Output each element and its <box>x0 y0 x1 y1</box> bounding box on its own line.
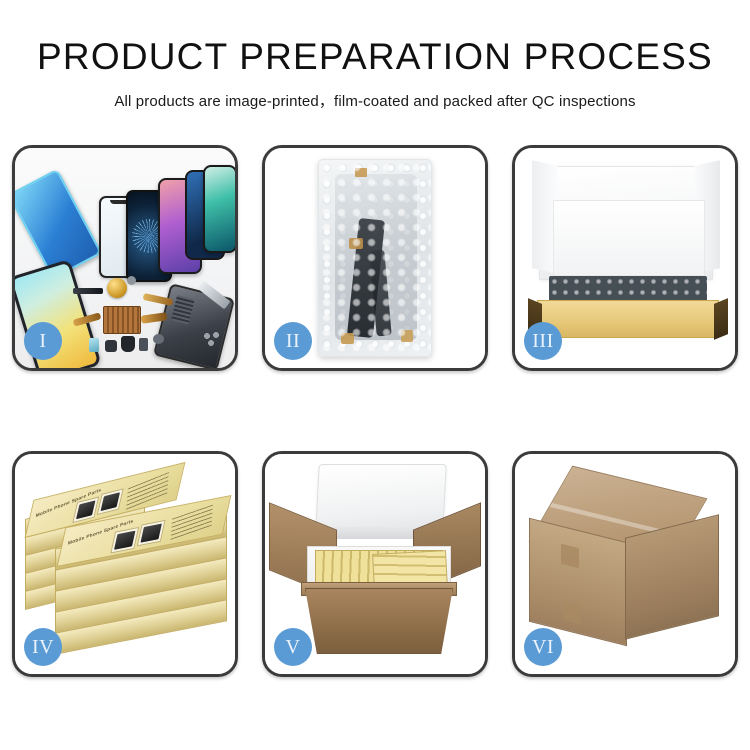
step-card-3[interactable]: III <box>512 145 738 371</box>
carton-front-panel-icon <box>305 588 453 654</box>
phone-green-icon <box>203 165 237 253</box>
small-part-icon <box>89 338 99 352</box>
step-card-6[interactable]: VI <box>512 451 738 677</box>
box-spec-lines <box>171 505 214 541</box>
infographic-page: PRODUCT PREPARATION PROCESS All products… <box>0 0 750 750</box>
small-part-icon <box>105 340 117 352</box>
page-subtitle: All products are image-printed，film-coat… <box>0 90 750 111</box>
page-title: PRODUCT PREPARATION PROCESS <box>0 38 750 77</box>
box-spec-lines <box>126 472 169 511</box>
box-artwork-icon <box>110 527 139 554</box>
box-artwork-icon <box>137 520 166 547</box>
bubble-texture-overlay <box>319 160 431 356</box>
carton-right-face-icon <box>625 514 719 639</box>
small-part-icon <box>153 334 164 344</box>
small-part-icon <box>139 338 148 351</box>
step-card-4[interactable]: Mobile Phone Spare Parts Mobile Phone Sp… <box>12 451 238 677</box>
foam-lid-icon <box>315 464 447 532</box>
step-badge-5: V <box>274 628 312 666</box>
step-badge-6: VI <box>524 628 562 666</box>
process-step-grid: I II <box>12 145 738 677</box>
small-part-icon <box>127 276 136 285</box>
step-badge-2: II <box>274 322 312 360</box>
bubble-wrap-package-icon <box>318 159 432 357</box>
step-card-5[interactable]: V <box>262 451 488 677</box>
step-badge-4: IV <box>24 628 62 666</box>
small-part-icon <box>121 336 135 352</box>
header: PRODUCT PREPARATION PROCESS All products… <box>0 0 750 111</box>
foam-sheet-icon <box>553 200 705 276</box>
kraft-box-base-icon <box>537 300 719 338</box>
box-artwork-icon <box>97 488 124 515</box>
step-card-2[interactable]: II <box>262 145 488 371</box>
step-card-1[interactable]: I <box>12 145 238 371</box>
chip-grid-icon <box>103 306 141 334</box>
speaker-coil-icon <box>107 278 127 298</box>
step-badge-3: III <box>524 322 562 360</box>
carton-tape-icon <box>561 544 579 568</box>
screws-icon <box>203 332 225 346</box>
earpiece-mesh-icon <box>73 288 103 294</box>
step-badge-1: I <box>24 322 62 360</box>
